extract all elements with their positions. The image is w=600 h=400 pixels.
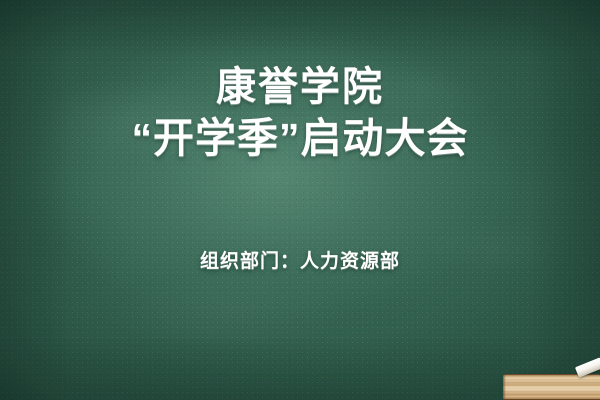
title-line-2: “开学季”启动大会 (132, 113, 469, 164)
chalk-ledge-left-cap (503, 374, 506, 400)
slide-subtitle: 组织部门：人力资源部 (200, 246, 400, 273)
title-slide: 康誉学院 “开学季”启动大会 组织部门：人力资源部 (0, 0, 600, 400)
chalk-ledge-icon (503, 374, 600, 400)
slide-content: 康誉学院 “开学季”启动大会 组织部门：人力资源部 (0, 0, 600, 400)
title-line-1: 康誉学院 (132, 62, 469, 113)
chalk-ledge-grain (503, 374, 600, 400)
slide-title: 康誉学院 “开学季”启动大会 (132, 62, 469, 164)
